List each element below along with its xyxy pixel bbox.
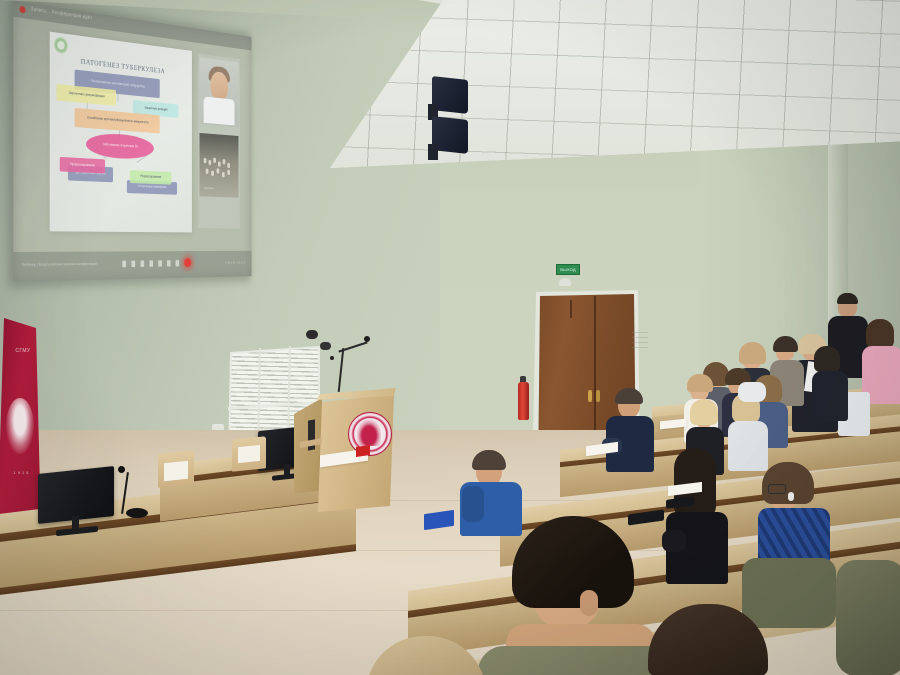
hair bbox=[866, 319, 894, 349]
door-handle-left[interactable] bbox=[588, 390, 592, 402]
ear bbox=[580, 590, 598, 616]
video-tile-column: Докладчик Аудитория bbox=[198, 53, 240, 228]
participants-icon[interactable] bbox=[158, 260, 162, 266]
banner-bottom-text: 1918 bbox=[4, 470, 40, 475]
reactions-icon[interactable] bbox=[167, 260, 171, 266]
white-sleeve bbox=[738, 382, 766, 402]
speaker-bracket-bottom bbox=[428, 144, 438, 160]
screen-surface: Запись... Конференция идёт ПАТОГЕНЕЗ ТУБ… bbox=[13, 1, 251, 282]
desk-mic-left-base bbox=[126, 508, 148, 518]
slide-node-pink: Прогрессирование bbox=[60, 157, 105, 174]
chair-right-paper bbox=[238, 445, 260, 463]
camera-icon[interactable] bbox=[131, 260, 135, 267]
recording-indicator-icon bbox=[20, 6, 26, 14]
arm bbox=[462, 486, 484, 522]
olive-sleeve-right bbox=[836, 560, 900, 675]
door-gap bbox=[570, 300, 572, 318]
olive-jacket bbox=[742, 558, 836, 628]
door-handle-right[interactable] bbox=[596, 390, 600, 402]
video-tile-speaker[interactable]: Докладчик bbox=[200, 57, 239, 127]
banner-emblem-icon bbox=[6, 398, 34, 454]
banner-top-text: СГМУ bbox=[8, 348, 38, 354]
slide-logo-icon bbox=[54, 36, 68, 54]
exit-sign-label: ВЫХОД bbox=[560, 267, 575, 272]
more-icon[interactable] bbox=[176, 260, 180, 266]
earbud-icon bbox=[788, 492, 794, 501]
speaker-face bbox=[211, 71, 228, 101]
presentation-slide: ПАТОГЕНЕЗ ТУБЕРКУЛЕЗА Проникновение мико… bbox=[50, 32, 192, 233]
mic-icon[interactable] bbox=[122, 260, 126, 267]
glasses-icon bbox=[768, 484, 786, 494]
lectern-red-folder bbox=[356, 445, 370, 457]
conference-brand: SBERJAZZ bbox=[225, 260, 246, 265]
ceiling-dome-light bbox=[559, 278, 571, 286]
hair bbox=[837, 293, 858, 304]
slide-node-center: Заболевание вторичным ТБ bbox=[86, 132, 154, 161]
fire-extinguisher bbox=[518, 382, 529, 420]
lecture-hall-photo: Запись... Конференция идёт ПАТОГЕНЕЗ ТУБ… bbox=[0, 0, 900, 675]
leave-call-button[interactable] bbox=[184, 258, 191, 267]
projection-screen: Запись... Конференция идёт ПАТОГЕНЕЗ ТУБ… bbox=[8, 0, 257, 296]
sensor-icon bbox=[330, 356, 334, 360]
arm bbox=[662, 530, 686, 552]
camera-icon bbox=[306, 330, 318, 339]
speaker-white-coat bbox=[204, 96, 235, 125]
chair-left-paper bbox=[164, 461, 188, 482]
camera-icon bbox=[320, 342, 331, 350]
lectern-mic-head bbox=[364, 336, 370, 342]
university-seal-center bbox=[357, 420, 381, 446]
exit-sign: ВЫХОД bbox=[556, 264, 580, 275]
connector bbox=[118, 94, 119, 102]
desk-mic-left-head bbox=[118, 466, 125, 473]
chat-icon[interactable] bbox=[149, 260, 153, 266]
wall-notice bbox=[632, 330, 648, 348]
share-screen-icon[interactable] bbox=[140, 260, 144, 266]
slide-node-green: Регрессирование bbox=[130, 170, 171, 185]
session-label: Вебинар | Всероссийская научная конферен… bbox=[22, 261, 97, 267]
video-tile-audience[interactable]: Аудитория bbox=[200, 133, 239, 198]
toolbar-icons bbox=[122, 258, 191, 268]
audience-tile-label: Аудитория bbox=[204, 186, 214, 190]
